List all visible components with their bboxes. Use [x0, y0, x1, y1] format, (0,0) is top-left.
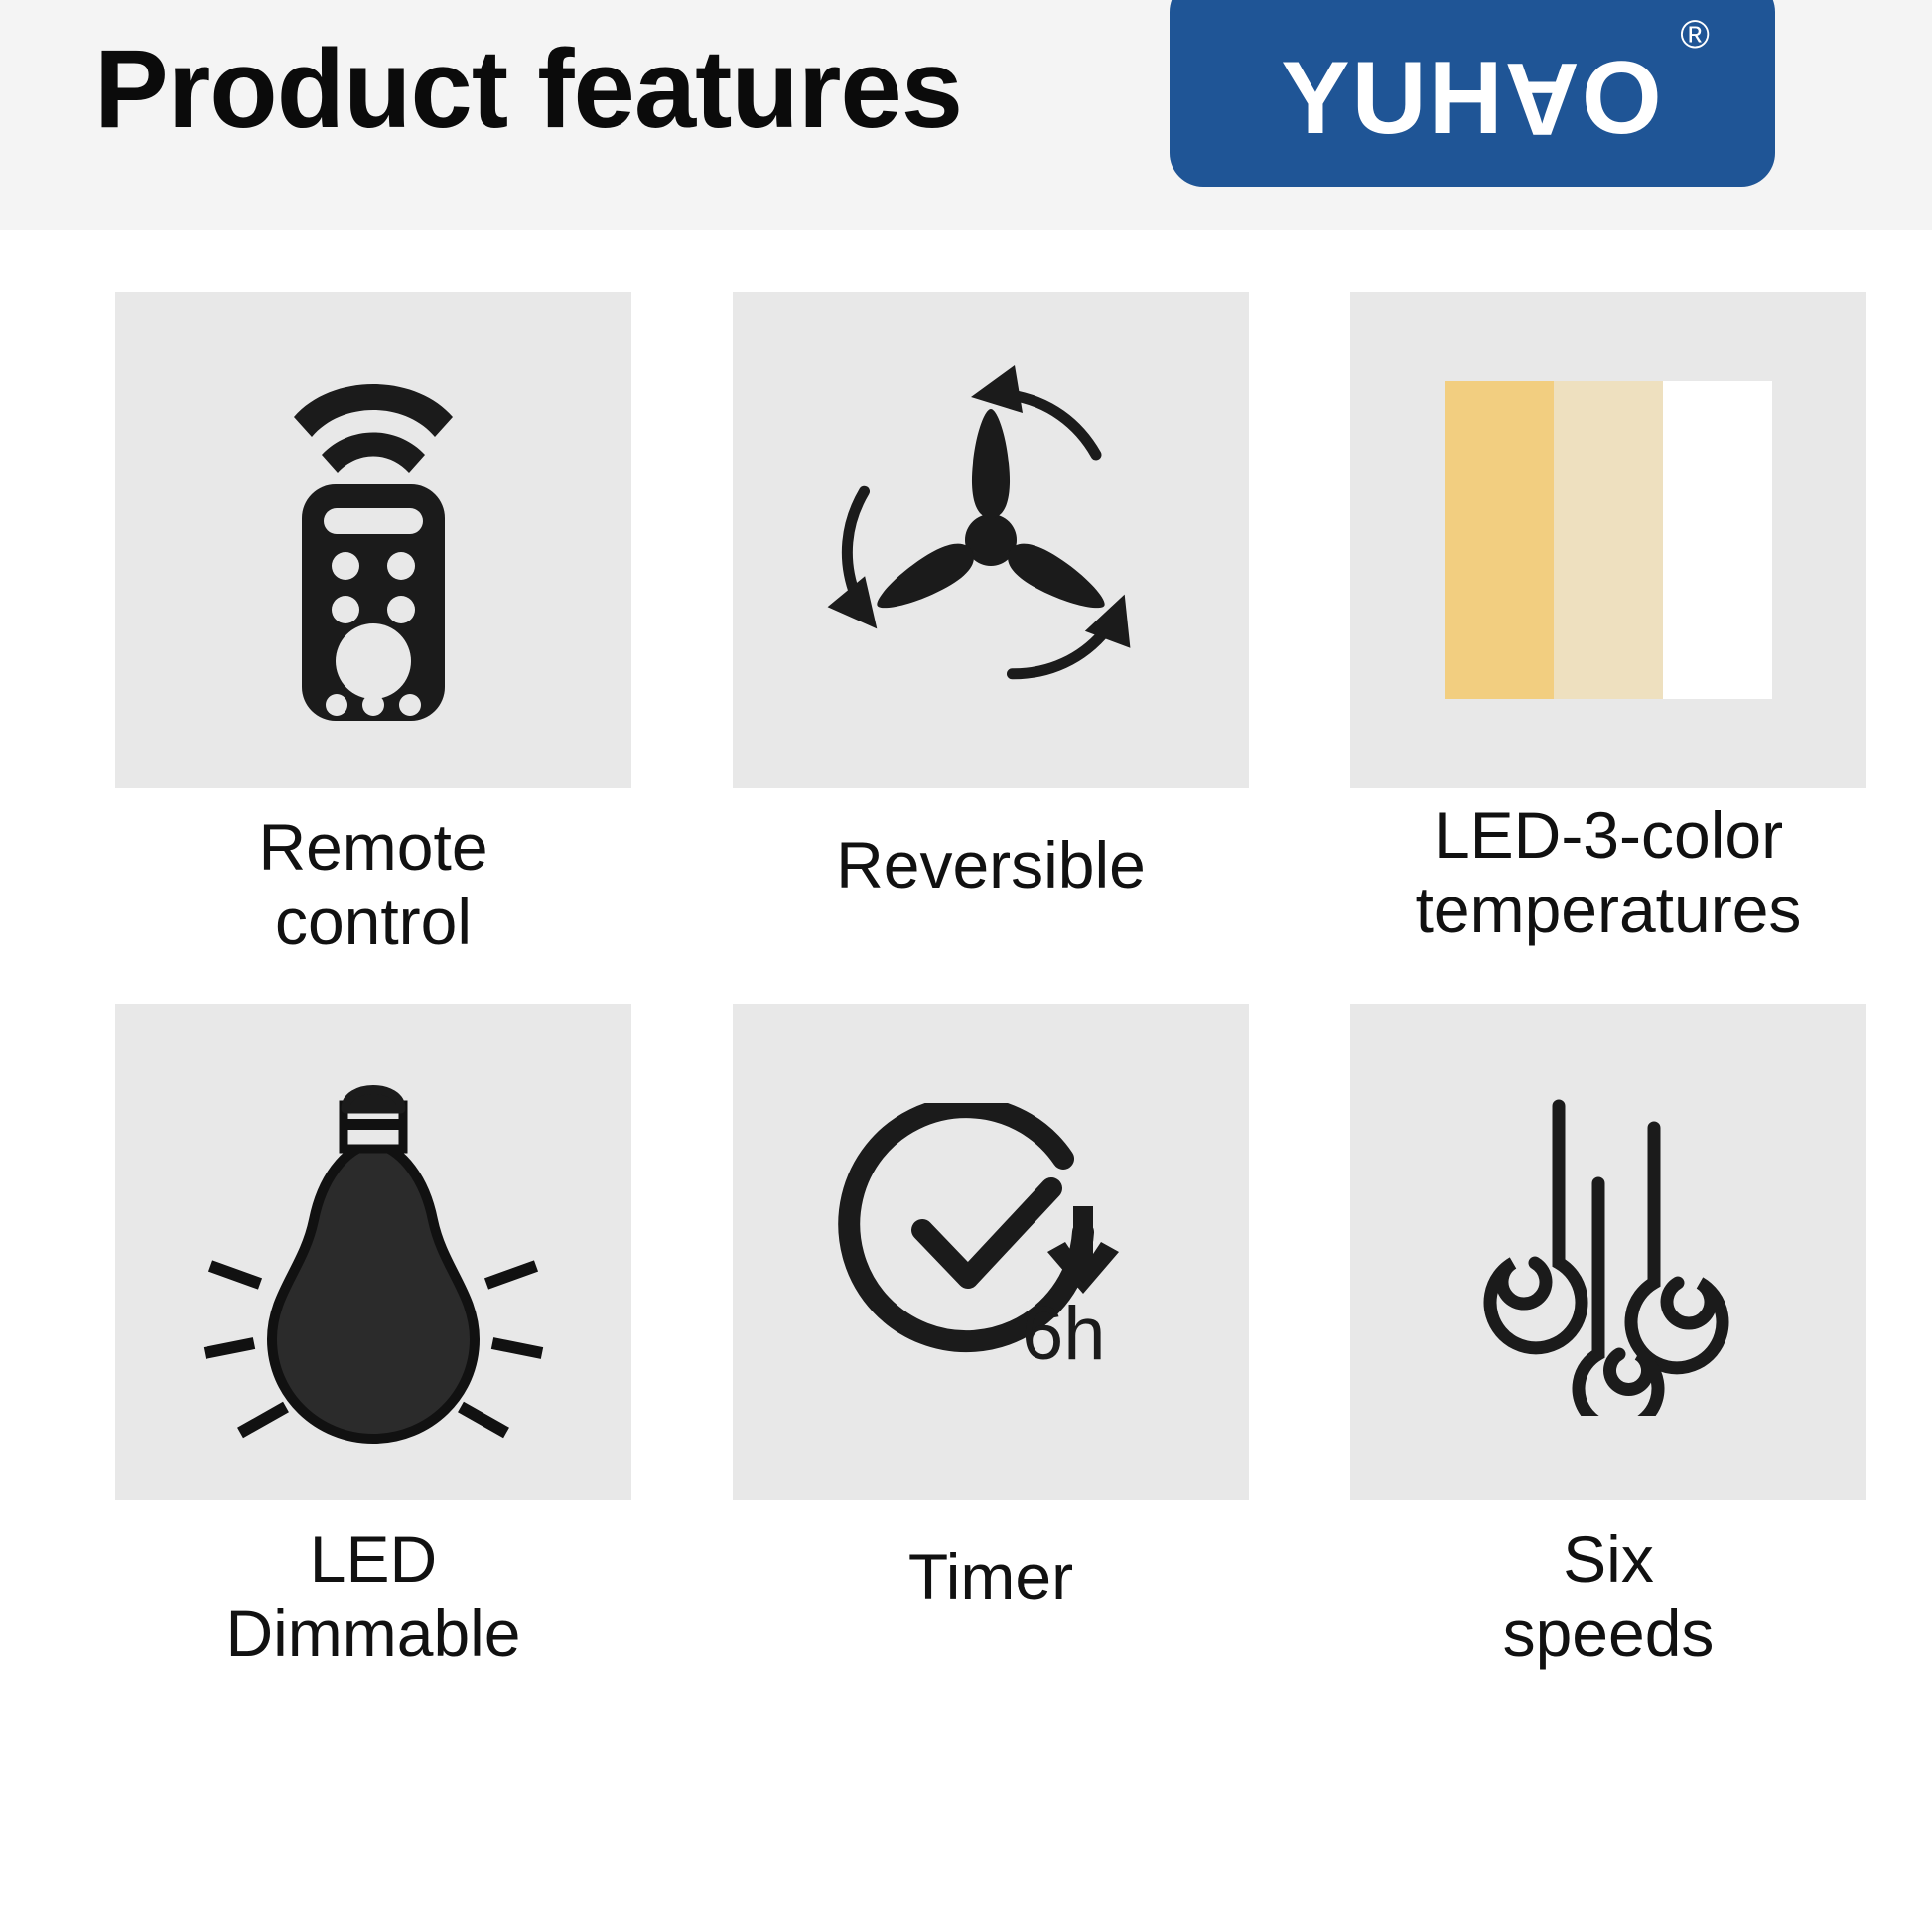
logo-letter-y: Y [1281, 47, 1351, 150]
feature-icon-tile [1350, 1004, 1866, 1500]
feature-remote-control: Remote control [71, 292, 675, 958]
brand-wordmark: Y U H A O [1281, 47, 1664, 150]
feature-icon-tile: 6h [733, 1004, 1249, 1500]
features-row-2: LED Dimmable 6h Timer [0, 1004, 1932, 1670]
brand-logo-inner: Y U H A O ® [1281, 47, 1664, 150]
page-title: Product features [94, 34, 962, 145]
color-temperature-swatches-icon [1445, 381, 1772, 699]
feature-label: Six speeds [1503, 1522, 1715, 1670]
features-grid: Remote control [0, 230, 1932, 1670]
logo-letter-o: O [1582, 47, 1664, 150]
feature-timer: 6h Timer [689, 1004, 1293, 1670]
feature-icon-tile [733, 292, 1249, 788]
feature-icon-tile [115, 1004, 631, 1500]
wind-speed-icon [1459, 1088, 1757, 1416]
feature-icon-tile [115, 292, 631, 788]
logo-letter-a: A [1505, 47, 1582, 150]
feature-label: Reversible [836, 828, 1146, 902]
feature-reversible: Reversible [689, 292, 1293, 958]
light-bulb-icon [195, 1053, 552, 1450]
feature-icon-tile [1350, 292, 1866, 788]
feature-led-dimmable: LED Dimmable [71, 1004, 675, 1670]
features-row-1: Remote control [0, 292, 1932, 958]
swatch-cool-white [1663, 381, 1772, 699]
page-header: Product features Y U H A O ® [0, 0, 1932, 230]
feature-six-speeds: Six speeds [1307, 1004, 1910, 1670]
swatch-warm-white [1445, 381, 1554, 699]
feature-label: LED Dimmable [225, 1522, 520, 1670]
feature-led-color-temperatures: LED-3-color temperatures [1307, 292, 1910, 958]
feature-label: LED-3-color temperatures [1416, 798, 1802, 946]
remote-control-icon [224, 351, 522, 729]
brand-logo-badge: Y U H A O ® [1170, 0, 1775, 187]
feature-label: Timer [908, 1540, 1073, 1614]
swatch-neutral-white [1554, 381, 1663, 699]
logo-letter-h: H [1429, 47, 1505, 150]
timer-duration-label: 6h [1022, 1292, 1106, 1376]
logo-letter-u: U [1352, 47, 1429, 150]
timer-clock-icon: 6h [827, 1103, 1155, 1401]
reversible-fan-icon [802, 351, 1179, 729]
registered-trademark-icon: ® [1680, 13, 1709, 58]
feature-label: Remote control [258, 810, 487, 958]
